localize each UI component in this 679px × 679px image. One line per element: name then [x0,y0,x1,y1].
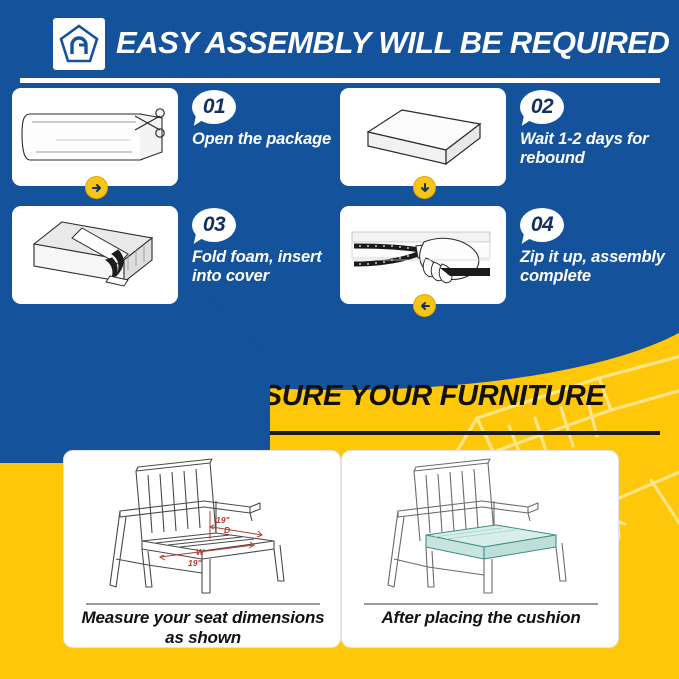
assembly-step-01: 01 Open the package [12,88,342,200]
step-number-badge: 02 [520,90,566,130]
panel-caption: After placing the cushion [352,608,610,628]
step-number-badge: 03 [192,208,238,248]
step-number-bubble: 01 [192,90,236,124]
step-number-badge: 01 [192,90,238,130]
header: EASY ASSEMBLY WILL BE REQUIRED [0,8,679,66]
assembly-step-03: 03 Fold foam, insert into cover [12,206,342,318]
house-pentagon-logo-icon [53,18,105,70]
step-number-label: 04 [531,208,553,242]
assembly-section: EASY ASSEMBLY WILL BE REQUIRED [0,0,679,318]
panel-divider [364,603,598,605]
step-illustration-card [12,206,178,304]
measure-panels: 19" D W 19" Measure your seat dimensions… [0,450,679,655]
dimension-label-width-value: 19" [188,558,202,568]
measure-panel-cushion: After placing the cushion [341,450,619,648]
assembly-steps-list: 01 Open the package [0,88,679,318]
infographic-page: EASY ASSEMBLY WILL BE REQUIRED [0,0,679,679]
arrow-left-icon [413,294,436,317]
step-number-bubble: 03 [192,208,236,242]
step-illustration-card [12,88,178,186]
assembly-step-04: 04 Zip it up, assembly complete [340,206,670,318]
dimension-label-depth-value: 19" [216,515,230,525]
step-illustration-card [340,206,506,304]
arrow-down-icon [413,176,436,199]
dimension-label-width-axis: W [196,547,205,557]
step-number-label: 02 [531,90,553,124]
assembly-step-02: 02 Wait 1-2 days for rebound [340,88,670,200]
dimension-label-depth-axis: D [224,525,230,535]
step-number-label: 03 [203,208,225,242]
step-number-bubble: 02 [520,90,564,124]
fold-foam-into-cover-illustration [12,206,178,304]
step-description: Fold foam, insert into cover [192,248,342,286]
chair-with-dimension-labels-illustration: 19" D W 19" [64,455,341,595]
arrow-right-icon [85,176,108,199]
step-number-bubble: 04 [520,208,564,242]
page-title: EASY ASSEMBLY WILL BE REQUIRED [116,20,666,66]
hand-zipping-cushion-illustration [340,206,506,304]
step-description: Open the package [192,130,342,149]
header-divider [20,78,660,83]
package-with-scissors-illustration [12,88,178,186]
panel-caption: Measure your seat dimensions as shown [74,608,332,648]
foam-slab-illustration [340,88,506,186]
chair-with-cushion-illustration [342,455,619,595]
step-number-badge: 04 [520,208,566,248]
step-number-label: 01 [203,90,225,124]
panel-divider [86,603,320,605]
measure-panel-dimensions: 19" D W 19" Measure your seat dimensions… [63,450,341,648]
step-description: Wait 1-2 days for rebound [520,130,679,168]
step-illustration-card [340,88,506,186]
step-description: Zip it up, assembly complete [520,248,679,286]
